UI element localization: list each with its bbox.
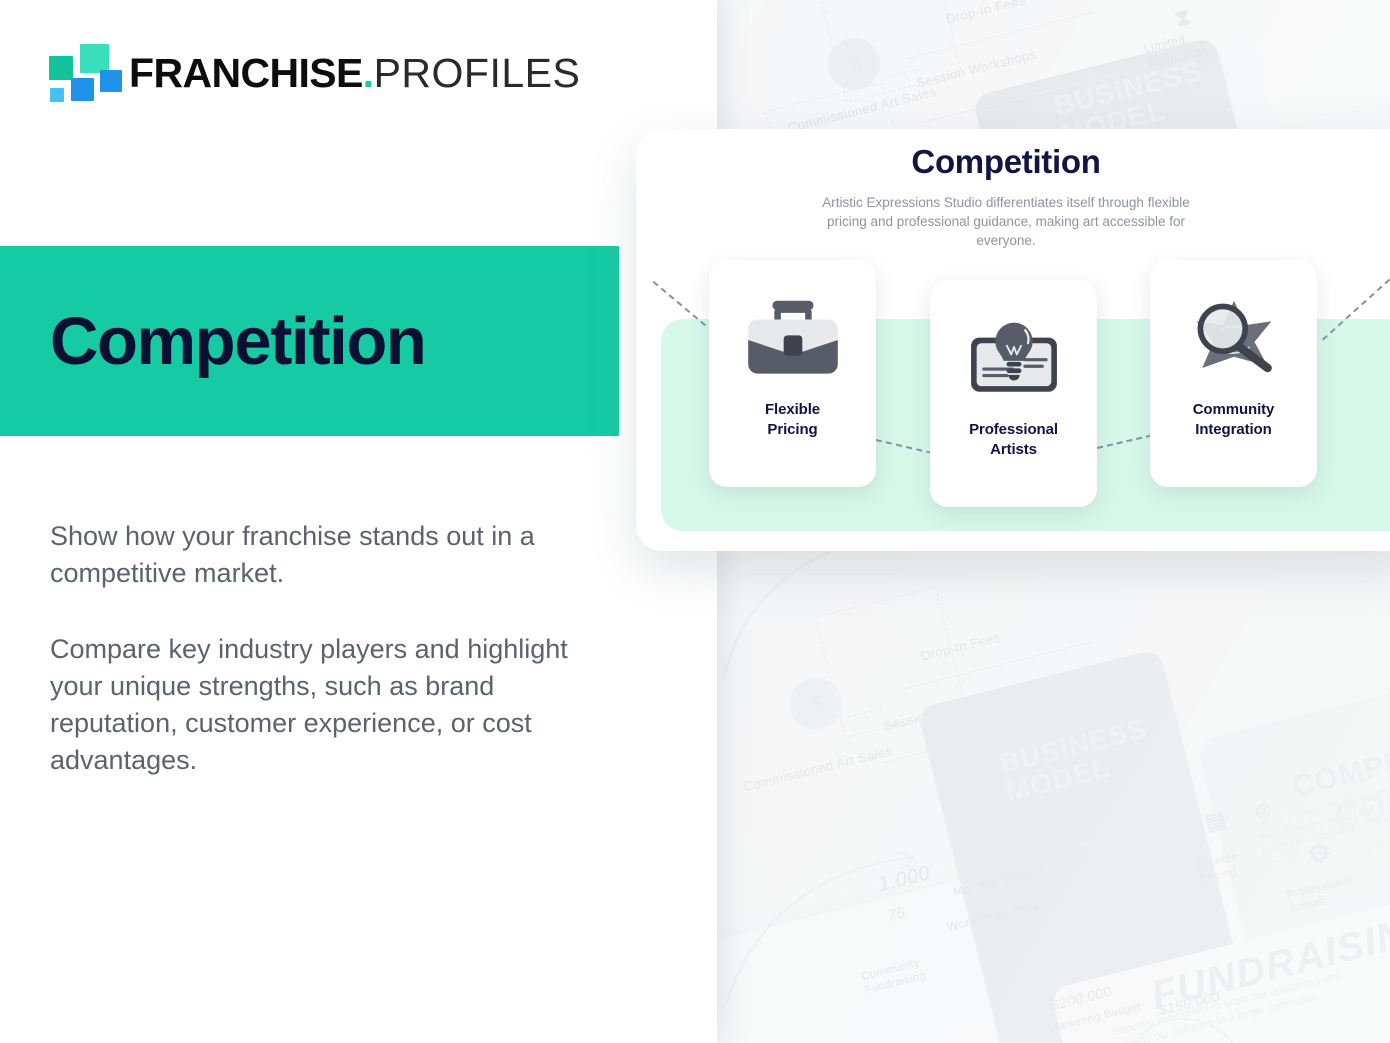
- brand-name-dot: .: [363, 53, 374, 94]
- left-panel: FRANCHISE.PROFILES Competition Show how …: [0, 0, 717, 1043]
- page-title-banner: Competition: [0, 246, 619, 436]
- feature-tile-label: Flexible Pricing: [765, 400, 820, 440]
- description-paragraph-2: Compare key industry players and highlig…: [50, 631, 620, 780]
- slide-title: Competition: [636, 143, 1376, 181]
- page-title: Competition: [50, 308, 425, 375]
- brand-wordmark: FRANCHISE.PROFILES: [129, 53, 580, 94]
- feature-tile-flexible-pricing[interactable]: Flexible Pricing: [709, 260, 876, 487]
- star-magnifier-icon: [1174, 286, 1294, 394]
- feature-tile-label: Community Integration: [1193, 400, 1275, 440]
- slide-root: BUSINESS MODEL Revenue generation throug…: [0, 0, 1390, 1043]
- brand-name-thin: PROFILES: [374, 53, 581, 94]
- brand-logo[interactable]: FRANCHISE.PROFILES: [47, 44, 580, 102]
- feature-tile-professional-artists[interactable]: Professional Artists: [930, 280, 1097, 507]
- feature-tile-community-integration[interactable]: Community Integration: [1150, 260, 1317, 487]
- description-block: Show how your franchise stands out in a …: [50, 518, 620, 780]
- brand-name-bold: FRANCHISE: [129, 53, 363, 94]
- slide-header: Competition Artistic Expressions Studio …: [636, 143, 1376, 250]
- slide-subtitle: Artistic Expressions Studio differentiat…: [806, 193, 1206, 250]
- slide-preview-card[interactable]: Competition Artistic Expressions Studio …: [636, 129, 1390, 551]
- briefcase-icon: [733, 286, 853, 394]
- description-paragraph-1: Show how your franchise stands out in a …: [50, 518, 620, 593]
- lightbulb-board-icon: [954, 306, 1074, 414]
- feature-tile-label: Professional Artists: [969, 420, 1058, 460]
- logo-mark-icon: [47, 44, 109, 102]
